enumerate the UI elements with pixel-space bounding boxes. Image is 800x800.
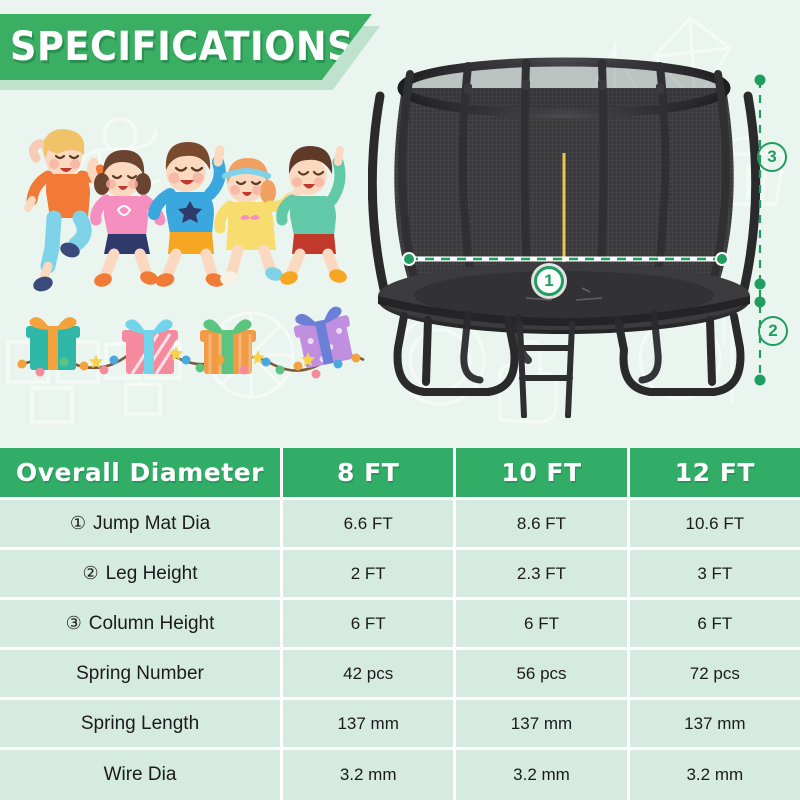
- row-label-text: Leg Height: [106, 563, 198, 585]
- gift-2: [122, 319, 178, 374]
- row-label-column-height: ③ Column Height: [0, 600, 283, 650]
- circled-number-2: ②: [82, 563, 98, 584]
- kid-3: [154, 142, 226, 289]
- cell-leg-height-10ft: 2.3 FT: [456, 550, 629, 600]
- kid-5: [279, 146, 348, 287]
- measurement-marker-2: 2: [758, 316, 788, 346]
- row-label-spring-number: Spring Number: [0, 650, 283, 700]
- specifications-banner: SPECIFICATIONS: [0, 14, 372, 80]
- page-title: SPECIFICATIONS: [10, 24, 354, 70]
- cell-column-height-8ft: 6 FT: [283, 600, 456, 650]
- gift-4: [291, 304, 357, 369]
- infographic-page: SPECIFICATIONS: [0, 0, 800, 800]
- kid-1: [28, 129, 100, 294]
- cell-jump-mat-8ft: 6.6 FT: [283, 500, 456, 550]
- cell-column-height-10ft: 6 FT: [456, 600, 629, 650]
- row-label-text: Jump Mat Dia: [93, 513, 210, 535]
- cell-spring-length-10ft: 137 mm: [456, 700, 629, 750]
- cell-spring-number-10ft: 56 pcs: [456, 650, 629, 700]
- gift-1: [26, 317, 80, 370]
- cell-wire-dia-8ft: 3.2 mm: [283, 750, 456, 800]
- header-12ft: 12 FT: [630, 448, 800, 500]
- cell-leg-height-8ft: 2 FT: [283, 550, 456, 600]
- cell-spring-length-12ft: 137 mm: [630, 700, 800, 750]
- circled-number-1: ①: [70, 513, 86, 534]
- measurement-marker-3: 3: [757, 142, 787, 172]
- header-8ft: 8 FT: [283, 448, 456, 500]
- gift-boxes-garland-illustration: [8, 300, 368, 408]
- cell-spring-number-12ft: 72 pcs: [630, 650, 800, 700]
- cell-spring-length-8ft: 137 mm: [283, 700, 456, 750]
- row-label-wire-dia: Wire Dia: [0, 750, 283, 800]
- table-row: Spring Number 42 pcs 56 pcs 72 pcs: [0, 650, 800, 700]
- table-row: ③ Column Height 6 FT 6 FT 6 FT: [0, 600, 800, 650]
- circled-number-3: ③: [66, 613, 82, 634]
- cell-wire-dia-12ft: 3.2 mm: [630, 750, 800, 800]
- trampoline-product-image: [368, 48, 800, 418]
- measurement-marker-1: 1: [534, 266, 564, 296]
- jumping-kids-illustration: [18, 122, 348, 302]
- table-row: Wire Dia 3.2 mm 3.2 mm 3.2 mm: [0, 750, 800, 800]
- header-overall-diameter: Overall Diameter: [0, 448, 283, 500]
- cell-jump-mat-12ft: 10.6 FT: [630, 500, 800, 550]
- row-label-spring-length: Spring Length: [0, 700, 283, 750]
- cell-leg-height-12ft: 3 FT: [630, 550, 800, 600]
- table-row: ① Jump Mat Dia 6.6 FT 8.6 FT 10.6 FT: [0, 500, 800, 550]
- header-10ft: 10 FT: [456, 448, 629, 500]
- table-row: Spring Length 137 mm 137 mm 137 mm: [0, 700, 800, 750]
- cell-jump-mat-10ft: 8.6 FT: [456, 500, 629, 550]
- table-row: ② Leg Height 2 FT 2.3 FT 3 FT: [0, 550, 800, 600]
- specifications-table: Overall Diameter 8 FT 10 FT 12 FT ① Jump…: [0, 448, 800, 800]
- cell-spring-number-8ft: 42 pcs: [283, 650, 456, 700]
- cell-wire-dia-10ft: 3.2 mm: [456, 750, 629, 800]
- gift-3: [200, 319, 256, 374]
- table-header-row: Overall Diameter 8 FT 10 FT 12 FT: [0, 448, 800, 500]
- row-label-leg-height: ② Leg Height: [0, 550, 283, 600]
- row-label-text: Column Height: [89, 613, 215, 635]
- row-label-jump-mat-dia: ① Jump Mat Dia: [0, 500, 283, 550]
- cell-column-height-12ft: 6 FT: [630, 600, 800, 650]
